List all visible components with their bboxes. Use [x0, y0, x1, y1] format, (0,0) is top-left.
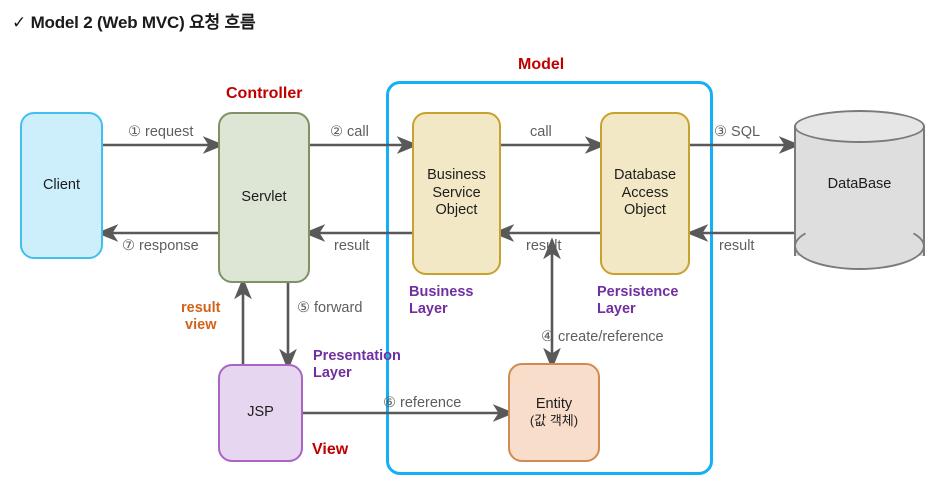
node-client-label: Client — [43, 177, 80, 195]
flow-label-call-2: ② call — [330, 124, 369, 141]
flow-label-create-reference: ④ create/reference — [541, 329, 664, 346]
flow-label-request: ① request — [128, 124, 193, 141]
flow-label-result-servlet: result — [334, 238, 369, 255]
node-servlet-label: Servlet — [241, 189, 286, 207]
caption-persistence-layer-line2: Layer — [597, 301, 678, 318]
node-database-label: DataBase — [794, 176, 925, 192]
caption-presentation-layer-line2: Layer — [313, 365, 401, 382]
flow-label-call-mid: call — [530, 124, 552, 141]
node-dao-line2: Access — [614, 185, 676, 203]
caption-business-layer-line2: Layer — [409, 301, 473, 318]
diagram-canvas: ✓ Model 2 (Web MVC) 요청 흐름 — [0, 0, 930, 496]
page-title: ✓ Model 2 (Web MVC) 요청 흐름 — [12, 8, 255, 33]
node-database[interactable]: DataBase — [794, 110, 925, 272]
flow-label-reference: ⑥ reference — [383, 395, 461, 412]
node-bso-line3: Object — [427, 202, 486, 220]
node-bso-line1: Business — [427, 167, 486, 185]
caption-persistence-layer: Persistence Layer — [597, 284, 678, 318]
flow-label-response: ⑦ response — [122, 238, 199, 255]
node-servlet[interactable]: Servlet — [218, 112, 310, 283]
flow-label-sql: ③ SQL — [714, 124, 760, 141]
node-dao-line3: Object — [614, 202, 676, 220]
node-dao-line1: Database — [614, 167, 676, 185]
caption-model: Model — [518, 56, 564, 75]
database-cylinder-top — [794, 110, 925, 143]
node-database-access-object[interactable]: Database Access Object — [600, 112, 690, 275]
node-entity-line2: (값 객체) — [530, 413, 578, 429]
caption-presentation-layer-line1: Presentation — [313, 348, 401, 365]
caption-controller: Controller — [226, 85, 302, 104]
flow-label-result-view-line2: view — [181, 317, 221, 334]
node-bso-line2: Service — [427, 185, 486, 203]
node-entity-line1: Entity — [530, 396, 578, 414]
node-jsp-label: JSP — [247, 404, 274, 422]
caption-business-layer: Business Layer — [409, 284, 473, 318]
flow-label-result-dao: result — [526, 238, 561, 255]
database-cylinder-bottom — [794, 222, 925, 270]
caption-persistence-layer-line1: Persistence — [597, 284, 678, 301]
caption-presentation-layer: Presentation Layer — [313, 348, 401, 382]
flow-label-result-view-line1: result — [181, 300, 221, 317]
flow-label-result-view: result view — [181, 300, 221, 335]
flow-label-forward: ⑤ forward — [297, 300, 362, 317]
node-client[interactable]: Client — [20, 112, 103, 259]
node-business-service-object[interactable]: Business Service Object — [412, 112, 501, 275]
flow-label-result-db: result — [719, 238, 754, 255]
caption-view: View — [312, 441, 348, 460]
caption-business-layer-line1: Business — [409, 284, 473, 301]
node-jsp[interactable]: JSP — [218, 364, 303, 462]
node-entity[interactable]: Entity (값 객체) — [508, 363, 600, 462]
